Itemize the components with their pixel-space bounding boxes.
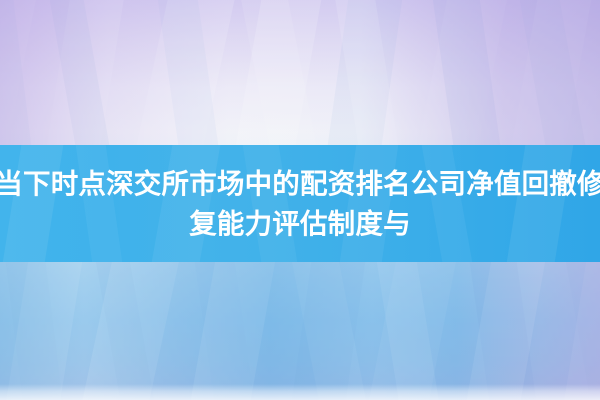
headline-line-2: 复能力评估制度与: [189, 204, 411, 244]
headline-text: 当下时点深交所市场中的配资排名公司净值回撤修 复能力评估制度与: [0, 145, 600, 262]
headline-line-1: 当下时点深交所市场中的配资排名公司净值回撤修: [0, 164, 600, 204]
banner-image: 当下时点深交所市场中的配资排名公司净值回撤修 复能力评估制度与: [0, 0, 600, 400]
bottom-haze: [0, 384, 600, 400]
